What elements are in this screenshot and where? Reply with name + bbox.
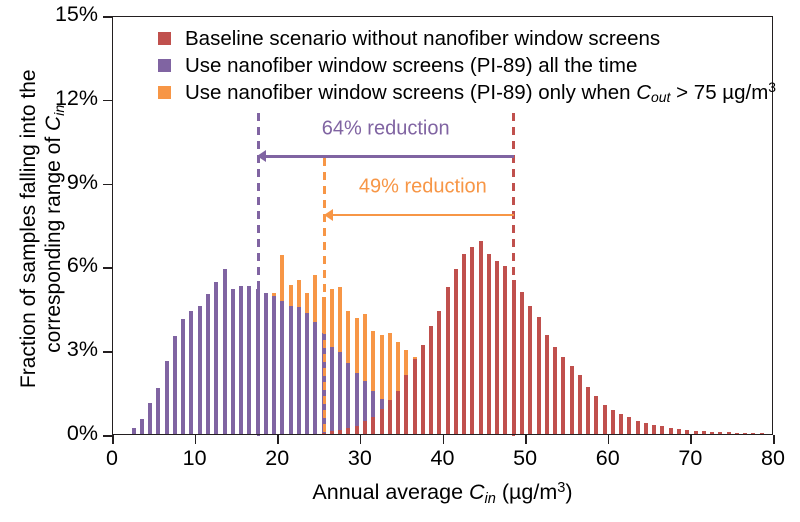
y-tick-label-3: 3%: [8, 339, 98, 361]
histogram-bar: [743, 433, 747, 434]
legend-var-cout: C: [636, 81, 651, 104]
histogram-bar: [470, 247, 474, 434]
histogram-bar: [751, 433, 755, 434]
x-tick-80: [773, 435, 775, 444]
histogram-bar: [231, 289, 235, 434]
x-axis-title-var: C: [469, 480, 485, 504]
x-axis-title: Annual average Cin (µg/m3): [112, 480, 773, 505]
legend-sub-out: out: [651, 89, 670, 105]
histogram-bar: [165, 361, 169, 434]
histogram-bar: [727, 432, 731, 434]
histogram-bar: [346, 363, 350, 434]
x-tick-0: [112, 435, 114, 444]
histogram-bar: [264, 293, 268, 434]
x-tick-70: [690, 435, 692, 444]
histogram-bar: [520, 292, 524, 434]
histogram-bar: [710, 432, 714, 434]
histogram-bar: [214, 282, 218, 434]
y-tick-label-15: 15%: [8, 4, 98, 26]
histogram-bar: [718, 432, 722, 434]
legend-item-conditional: Use nanofiber window screens (PI-89) onl…: [158, 79, 776, 106]
y-tick-label-0: 0%: [8, 423, 98, 445]
histogram-bar: [413, 359, 417, 434]
histogram-bar: [652, 425, 656, 434]
y-tick-0: [103, 435, 112, 437]
x-axis-title-sub: in: [485, 491, 496, 507]
reduction-49-label: 49% reduction: [359, 176, 487, 199]
histogram-bar: [570, 366, 574, 434]
histogram-bar: [396, 391, 400, 434]
histogram-bar: [206, 294, 210, 434]
y-tick-6: [103, 267, 112, 269]
y-axis-title-line2-prefix: corresponding range of: [42, 131, 65, 353]
legend-swatch-conditional: [158, 86, 171, 99]
median-line-median-baseline: [512, 113, 515, 436]
histogram-bar: [338, 352, 342, 434]
histogram-bar: [636, 421, 640, 434]
histogram-bar: [223, 269, 227, 434]
histogram-bar: [553, 347, 557, 434]
histogram-bar: [330, 431, 334, 434]
x-tick-30: [360, 435, 362, 444]
legend-item-always: Use nanofiber window screens (PI-89) all…: [158, 52, 776, 79]
histogram-bar: [603, 405, 607, 434]
y-tick-3: [103, 351, 112, 353]
histogram-bar: [619, 414, 623, 434]
x-axis-title-prefix: Annual average: [312, 480, 469, 504]
histogram-bar: [677, 429, 681, 434]
histogram-bar: [239, 286, 243, 434]
histogram-bar: [611, 410, 615, 434]
legend-item-baseline: Baseline scenario without nanofiber wind…: [158, 25, 776, 52]
histogram-bar: [198, 306, 202, 434]
reduction-49-arrow-head-icon: [324, 209, 333, 221]
legend-sup-3: 3: [768, 79, 776, 95]
x-tick-40: [443, 435, 445, 444]
histogram-bar: [694, 431, 698, 434]
y-axis-title: Fraction of samples falling into the cor…: [17, 19, 67, 439]
histogram-bar: [346, 428, 350, 434]
legend-label-baseline: Baseline scenario without nanofiber wind…: [185, 27, 660, 51]
histogram-bar: [132, 428, 136, 434]
histogram-bar: [487, 254, 491, 434]
histogram-bar: [313, 322, 317, 434]
histogram-bar: [338, 430, 342, 434]
y-tick-label-6: 6%: [8, 255, 98, 277]
histogram-bar: [280, 301, 284, 434]
y-axis-title-var: C: [42, 116, 65, 131]
y-tick-label-12: 12%: [8, 88, 98, 110]
histogram-bar: [156, 388, 160, 434]
histogram-bar: [148, 403, 152, 434]
histogram-bar: [454, 269, 458, 434]
x-axis-title-units-sup: 3: [557, 480, 565, 496]
histogram-bar: [371, 417, 375, 434]
x-tick-label-50: 50: [490, 448, 560, 470]
histogram-bar: [272, 296, 276, 434]
histogram-bar: [735, 433, 739, 434]
histogram-bar: [669, 428, 673, 434]
reduction-64-label: 64% reduction: [322, 117, 450, 140]
median-line-median-conditional: [323, 158, 326, 436]
histogram-bar: [594, 396, 598, 434]
y-axis-title-line2: corresponding range of Cin: [42, 19, 67, 439]
legend-label-always-text: Use nanofiber window screens (PI-89) all…: [185, 54, 637, 77]
legend-swatch-baseline: [158, 32, 171, 45]
x-tick-10: [195, 435, 197, 444]
x-tick-label-30: 30: [325, 448, 395, 470]
x-tick-label-40: 40: [408, 448, 478, 470]
histogram-bar: [479, 241, 483, 434]
x-tick-20: [277, 435, 279, 444]
histogram-bar: [247, 286, 251, 434]
histogram-bar: [446, 287, 450, 434]
histogram-bar: [760, 433, 764, 434]
y-tick-9: [103, 184, 112, 186]
histogram-bar: [380, 409, 384, 434]
y-tick-label-9: 9%: [8, 172, 98, 194]
histogram-bar: [660, 426, 664, 434]
x-tick-label-0: 0: [77, 448, 147, 470]
y-axis-title-line1: Fraction of samples falling into the: [17, 19, 42, 439]
y-tick-15: [103, 16, 112, 18]
histogram-bar: [503, 266, 507, 434]
histogram-bar: [437, 311, 441, 434]
histogram-bar: [528, 306, 532, 434]
reduction-49-arrow-line: [325, 214, 514, 216]
histogram-bar: [685, 430, 689, 434]
histogram-bar: [355, 426, 359, 434]
histogram-bar: [462, 254, 466, 434]
histogram-bar: [297, 307, 301, 434]
x-tick-label-60: 60: [573, 448, 643, 470]
legend-label-conditional-text: Use nanofiber window screens (PI-89) onl…: [185, 81, 776, 104]
reduction-64-arrow-line: [258, 155, 513, 157]
x-tick-60: [608, 435, 610, 444]
legend-label-always: Use nanofiber window screens (PI-89) all…: [185, 54, 637, 78]
histogram-bar: [189, 311, 193, 434]
histogram-bar: [537, 317, 541, 434]
x-tick-label-10: 10: [160, 448, 230, 470]
x-tick-50: [525, 435, 527, 444]
histogram-bar: [388, 400, 392, 434]
histogram-bar: [429, 326, 433, 434]
histogram-bar: [644, 423, 648, 434]
histogram-bar: [330, 347, 334, 434]
legend-swatch-always: [158, 59, 171, 72]
histogram-bar: [627, 417, 631, 434]
histogram-bar: [181, 319, 185, 434]
legend-label-conditional: Use nanofiber window screens (PI-89) onl…: [185, 81, 776, 105]
histogram-bar: [702, 431, 706, 434]
histogram-bar: [173, 336, 177, 434]
histogram-bar: [421, 345, 425, 434]
histogram-bar: [363, 421, 367, 434]
x-tick-label-80: 80: [738, 448, 800, 470]
reduction-64-arrow-head-icon: [257, 150, 266, 162]
y-tick-12: [103, 100, 112, 102]
figure-root: Fraction of samples falling into the cor…: [0, 0, 800, 522]
histogram-bar: [545, 335, 549, 434]
histogram-bar: [586, 387, 590, 434]
histogram-bar: [305, 313, 309, 435]
histogram-bar: [140, 419, 144, 434]
legend: Baseline scenario without nanofiber wind…: [158, 25, 776, 106]
histogram-bar: [561, 357, 565, 434]
x-tick-label-20: 20: [242, 448, 312, 470]
histogram-bar: [404, 375, 408, 434]
histogram-bar: [289, 306, 293, 434]
histogram-bar: [578, 375, 582, 434]
x-tick-label-70: 70: [655, 448, 725, 470]
x-axis-title-units-open: (µg/m: [496, 480, 557, 504]
x-axis-title-units-close: ): [565, 480, 572, 504]
histogram-bar: [495, 261, 499, 434]
